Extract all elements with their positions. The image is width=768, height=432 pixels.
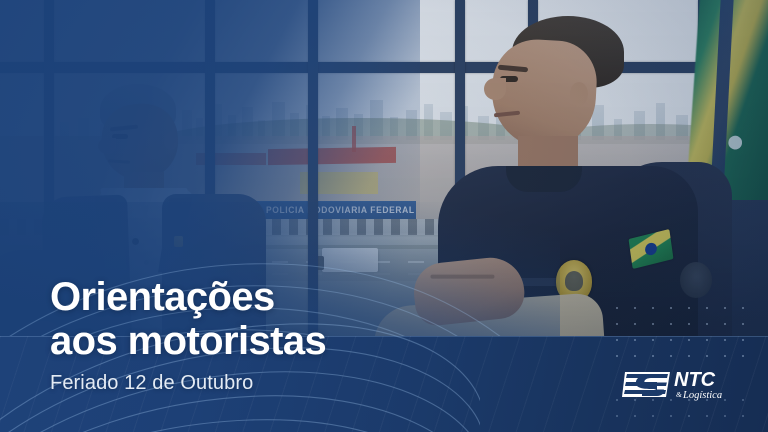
- page-subtitle: Feriado 12 de Outubro: [50, 370, 480, 396]
- page-title: Orientações aos motoristas: [50, 275, 480, 363]
- ntc-logistica-logo[interactable]: NTC & Logística: [622, 364, 746, 404]
- svg-text:&: &: [676, 390, 682, 399]
- svg-text:Logística: Logística: [682, 390, 722, 401]
- svg-text:NTC: NTC: [674, 369, 716, 391]
- title-line-2: aos motoristas: [50, 319, 480, 363]
- video-thumbnail: POLICIA RODOVIARIA FEDERAL ⬤: [0, 0, 768, 432]
- title-block: Orientações aos motoristas Feriado 12 de…: [50, 275, 480, 396]
- title-line-1: Orientações: [50, 275, 275, 319]
